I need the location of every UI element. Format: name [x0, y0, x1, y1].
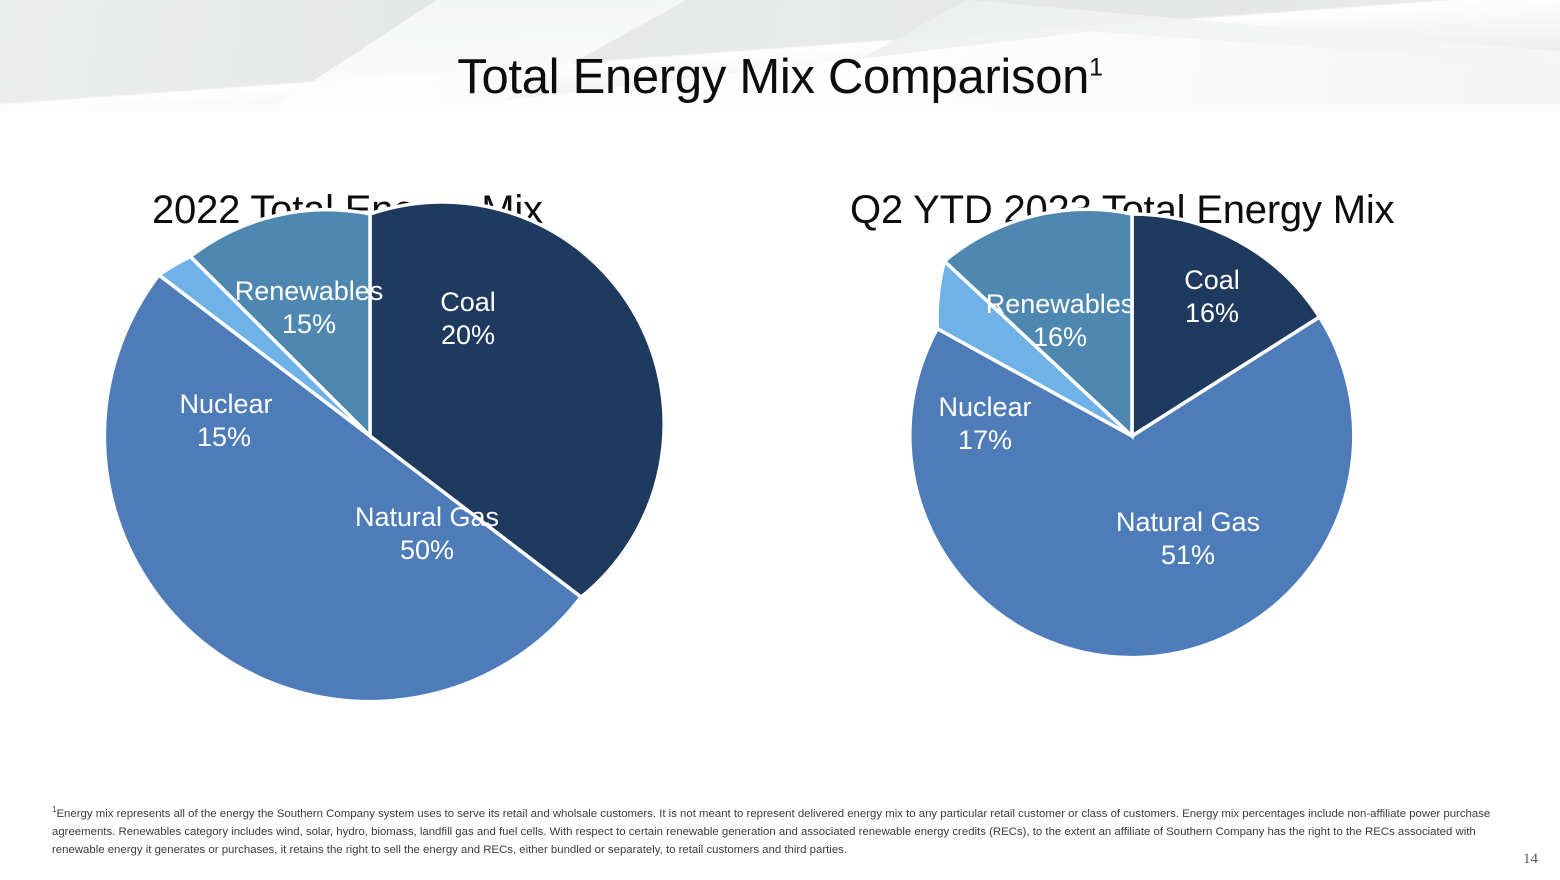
- pie-label-natural-gas-name: Natural Gas: [1116, 507, 1260, 537]
- pie-label-natural-gas-value: 51%: [1161, 540, 1215, 570]
- pie-label-natural-gas-name: Natural Gas: [355, 502, 499, 532]
- page-title-footnote-marker: 1: [1089, 54, 1103, 82]
- charts-container: 2022 Total Energy Mix Coal 20% Natural G…: [0, 112, 1560, 792]
- pie-chart-q2-ytd-2023-wrap: Coal 16% Natural Gas 51% Nuclear 17% Ren…: [782, 158, 1482, 758]
- pie-label-renewables-value: 15%: [282, 309, 336, 339]
- pie-label-coal-value: 20%: [441, 320, 495, 350]
- pie-chart-2022-wrap: Coal 20% Natural Gas 50% Nuclear 15% Ren…: [20, 158, 720, 758]
- chart-panel-2022: 2022 Total Energy Mix Coal 20% Natural G…: [20, 112, 720, 772]
- pie-chart-q2-ytd-2023: Coal 16% Natural Gas 51% Nuclear 17% Ren…: [782, 158, 1482, 758]
- page-title-text: Total Energy Mix Comparison: [457, 50, 1089, 104]
- pie-label-nuclear-value: 17%: [958, 425, 1012, 455]
- pie-label-nuclear-name: Nuclear: [938, 392, 1031, 422]
- pie-label-renewables-name: Renewables: [986, 289, 1135, 319]
- pie-label-renewables-name: Renewables: [235, 276, 384, 306]
- pie-label-coal-name: Coal: [440, 287, 496, 317]
- page-number: 14: [1523, 851, 1538, 868]
- pie-label-coal-value: 16%: [1185, 298, 1239, 328]
- pie-label-coal-name: Coal: [1184, 265, 1240, 295]
- pie-label-nuclear-value: 15%: [197, 422, 251, 452]
- page-title: Total Energy Mix Comparison1: [0, 51, 1560, 105]
- pie-label-nuclear-name: Nuclear: [179, 389, 272, 419]
- footnote: 1Energy mix represents all of the energy…: [52, 805, 1504, 859]
- pie-label-renewables-value: 16%: [1033, 322, 1087, 352]
- footnote-text: Energy mix represents all of the energy …: [52, 808, 1490, 856]
- pie-label-natural-gas-value: 50%: [400, 535, 454, 565]
- pie-chart-2022: Coal 20% Natural Gas 50% Nuclear 15% Ren…: [20, 158, 720, 758]
- chart-panel-q2-ytd-2023: Q2 YTD 2023 Total Energy Mix Coal 16% Na…: [782, 112, 1482, 772]
